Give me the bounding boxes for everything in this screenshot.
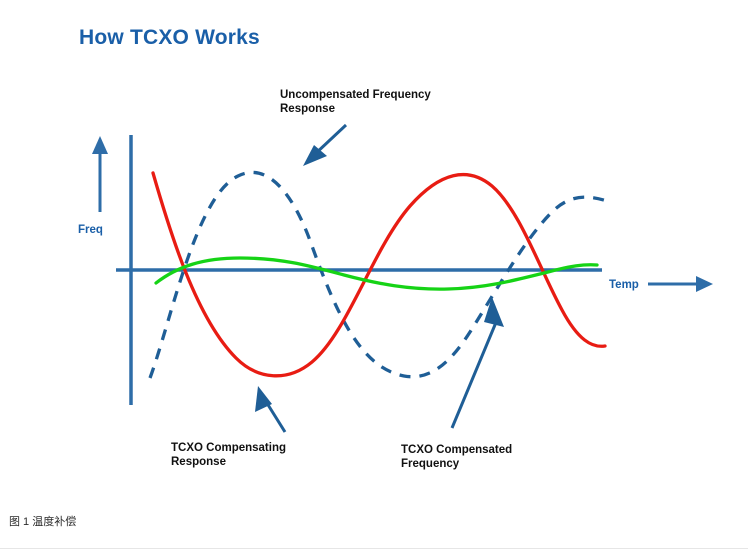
y-axis-label: Freq xyxy=(78,224,103,236)
freq-up-arrow xyxy=(92,136,108,212)
annotation-compensating-line1: TCXO Compensating xyxy=(171,441,286,455)
compensating-annotation-arrow xyxy=(255,386,285,432)
annotation-compensated: TCXO Compensated Frequency xyxy=(401,443,512,471)
temp-right-arrow xyxy=(648,276,713,292)
annotation-compensating: TCXO Compensating Response xyxy=(171,441,286,469)
annotation-compensated-line1: TCXO Compensated xyxy=(401,443,512,457)
annotation-compensating-line2: Response xyxy=(171,455,286,469)
annotation-compensated-line2: Frequency xyxy=(401,457,512,471)
figure-caption: 图 1 温度补偿 xyxy=(9,513,76,529)
annotation-uncompensated: Uncompensated Frequency Response xyxy=(280,88,431,116)
annotation-uncompensated-line1: Uncompensated Frequency xyxy=(280,88,431,102)
uncompensated-annotation-arrow xyxy=(303,125,346,166)
tcxo-diagram xyxy=(0,0,748,549)
green-curve xyxy=(156,258,597,289)
x-axis-label: Temp xyxy=(609,279,639,291)
annotation-uncompensated-line2: Response xyxy=(280,102,431,116)
figure-root: How TCXO Works xyxy=(0,0,748,549)
